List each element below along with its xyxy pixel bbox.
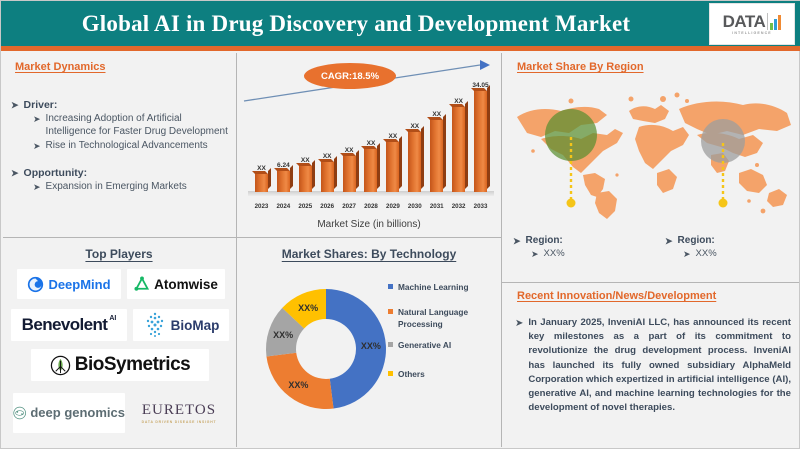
arrow-bullet-icon: ➤ <box>513 235 521 247</box>
circle-dna-icon <box>13 400 26 426</box>
region-1-label: Region: <box>678 235 715 247</box>
legend-label: Machine Learning <box>398 281 469 293</box>
logo-biomap-text: BioMap <box>171 318 220 333</box>
donut-slice-label: XX% <box>361 341 381 351</box>
page-title: Global AI in Drug Discovery and Developm… <box>82 11 721 37</box>
donut-slice-label: XX% <box>273 330 293 340</box>
region-1-value: XX% <box>696 248 717 260</box>
donut-slice-label: XX% <box>298 303 318 313</box>
world-map <box>511 81 795 221</box>
bar-shape <box>343 156 356 192</box>
logo-tagline: INTELLIGENCE <box>732 31 772 35</box>
divider-horizontal-left <box>3 237 501 238</box>
driver-label-row: ➤ Driver: <box>11 99 233 111</box>
bar-shape <box>430 120 443 192</box>
news-text: In January 2025, InveniAI LLC, has annou… <box>528 316 791 415</box>
driver-label: Driver: <box>24 99 58 111</box>
bar-year-label: 2027 <box>340 203 359 210</box>
top-players-heading: Top Players <box>3 247 235 261</box>
bar-year-label: 2023 <box>252 203 271 210</box>
bar-year-label: 2030 <box>405 203 424 210</box>
news-heading: Recent Innovation/News/Development <box>517 290 716 302</box>
page-header: Global AI in Drug Discovery and Developm… <box>1 1 800 46</box>
logo-row: DATA <box>723 13 782 30</box>
legend-label: Others <box>398 368 425 380</box>
infographic-page: Global AI in Drug Discovery and Developm… <box>0 0 800 449</box>
bar-shape <box>321 162 334 192</box>
region-entry-0: ➤ Region: ➤ XX% <box>513 235 641 260</box>
bar-year-label: 2026 <box>318 203 337 210</box>
bar-year-label: 2024 <box>274 203 293 210</box>
driver-item-0: Increasing Adoption of Artificial Intell… <box>46 113 233 138</box>
legend-label: Generative AI <box>398 339 451 351</box>
logo-wordmark: DATA <box>723 13 766 30</box>
logo-bars-icon <box>767 13 781 30</box>
donut-slice-label: XX% <box>288 380 308 390</box>
bar-x-axis-labels: 2023202420252026202720282029203020312032… <box>252 203 490 210</box>
bar-axis-title: Market Size (in billions) <box>238 219 500 230</box>
list-item: ➤ Rise in Technological Advancements <box>33 140 233 153</box>
brand-logo: DATA INTELLIGENCE <box>709 3 795 45</box>
recent-innovation-panel: Recent Innovation/News/Development ➤ In … <box>503 284 799 447</box>
logo-euretos-tagline: DATA DRIVEN DISEASE INSIGHT <box>142 420 217 424</box>
arrow-bullet-icon: ➤ <box>33 181 41 194</box>
divider-horizontal-right <box>501 282 799 283</box>
logo-euretos: EURETOS DATA DRIVEN DISEASE INSIGHT <box>131 397 227 429</box>
world-map-icon <box>511 81 795 221</box>
market-dynamics-heading: Market Dynamics <box>15 61 106 73</box>
logo-benevolent-sup: AI <box>109 315 116 322</box>
arrow-bullet-icon: ➤ <box>515 317 523 415</box>
top-players-panel: Top Players DeepMind Atomwise Benevolent <box>3 239 235 447</box>
logo-biosymetrics-text: BioSymetrics <box>75 354 190 376</box>
market-shares-by-technology-panel: Market Shares: By Technology XX%XX%XX%XX… <box>238 239 500 447</box>
list-item: ➤ Increasing Adoption of Artificial Inte… <box>33 113 233 138</box>
logo-deepmind: DeepMind <box>17 269 121 299</box>
bar-shape <box>452 107 465 192</box>
logo-deep-genomics: deep genomics <box>13 393 125 433</box>
legend-item: Machine Learning <box>388 281 496 293</box>
region-entry-1: ➤ Region: ➤ XX% <box>665 235 793 260</box>
cagr-badge: CAGR:18.5% <box>304 63 396 89</box>
header-accent-rule <box>1 46 800 51</box>
region-label-group: ➤ Region: ➤ XX% ➤ Region: ➤ XX% <box>513 235 793 260</box>
bar-shape <box>408 132 421 192</box>
market-size-bar-chart: CAGR:18.5% XX6.24XXXXXXXXXXXXXXXX34.05 2… <box>238 53 500 236</box>
top-players-logo-grid: DeepMind Atomwise Benevolent AI <box>9 265 229 441</box>
opportunity-label-row: ➤ Opportunity: <box>11 167 233 179</box>
arrow-bullet-icon: ➤ <box>33 140 41 153</box>
logo-deep-genomics-text: deep genomics <box>30 406 125 420</box>
arrow-bullet-icon: ➤ <box>33 113 41 138</box>
bar-shape <box>277 171 290 192</box>
bar-shape <box>255 174 268 192</box>
opportunity-item-0: Expansion in Emerging Markets <box>46 181 187 194</box>
arrow-bullet-icon: ➤ <box>683 248 691 260</box>
logo-deepmind-text: DeepMind <box>48 277 110 292</box>
region-heading: Market Share By Region <box>517 61 644 73</box>
logo-biosymetrics: BioSymetrics <box>31 349 209 381</box>
opportunity-label: Opportunity: <box>24 167 88 179</box>
legend-item: Natural Language Processing <box>388 306 496 330</box>
region-0-label: Region: <box>526 235 563 247</box>
dots-icon <box>143 312 167 338</box>
market-dynamics-body: ➤ Driver: ➤ Increasing Adoption of Artif… <box>11 89 233 193</box>
region-0-value: XX% <box>544 248 565 260</box>
market-share-by-region-panel: Market Share By Region <box>503 53 799 281</box>
bar-shape <box>299 166 312 192</box>
bar-year-label: 2031 <box>427 203 446 210</box>
logo-biomap: BioMap <box>133 309 229 341</box>
arrow-bullet-icon: ➤ <box>665 235 673 247</box>
legend-swatch-icon <box>388 309 393 314</box>
legend-swatch-icon <box>388 371 393 376</box>
arrow-bullet-icon: ➤ <box>11 99 19 111</box>
legend-item: Generative AI <box>388 339 496 351</box>
legend-swatch-icon <box>388 284 393 289</box>
leaf-icon <box>50 355 71 376</box>
arrow-bullet-icon: ➤ <box>11 167 19 179</box>
molecule-icon <box>134 276 150 292</box>
logo-atomwise-text: Atomwise <box>154 277 218 292</box>
region-marker-americas <box>545 109 597 161</box>
list-item: ➤ Expansion in Emerging Markets <box>33 181 233 194</box>
logo-euretos-text: EURETOS <box>142 402 216 419</box>
bar-year-label: 2032 <box>449 203 468 210</box>
bar-shape <box>364 149 377 192</box>
donut-legend: Machine LearningNatural Language Process… <box>388 281 496 380</box>
bar-year-label: 2028 <box>362 203 381 210</box>
driver-item-1: Rise in Technological Advancements <box>46 140 208 153</box>
bar-year-label: 2025 <box>296 203 315 210</box>
legend-swatch-icon <box>388 342 393 347</box>
bar-year-label: 2029 <box>383 203 402 210</box>
logo-atomwise: Atomwise <box>127 269 225 299</box>
spiral-icon <box>27 276 44 293</box>
bar-year-label: 2033 <box>471 203 490 210</box>
logo-benevolent-text: Benevolent <box>22 315 108 335</box>
market-dynamics-panel: Market Dynamics ➤ Driver: ➤ Increasing A… <box>3 53 235 236</box>
legend-label: Natural Language Processing <box>398 306 496 330</box>
divider-vertical-right <box>501 53 502 447</box>
news-body: ➤ In January 2025, InveniAI LLC, has ann… <box>515 316 791 415</box>
legend-item: Others <box>388 368 496 380</box>
arrow-bullet-icon: ➤ <box>531 248 539 260</box>
divider-vertical-left <box>236 53 237 447</box>
bar-shape <box>386 142 399 192</box>
logo-benevolent-ai: Benevolent AI <box>11 309 127 341</box>
donut-heading: Market Shares: By Technology <box>238 247 500 261</box>
donut-chart: XX%XX%XX%XX% <box>258 275 398 421</box>
